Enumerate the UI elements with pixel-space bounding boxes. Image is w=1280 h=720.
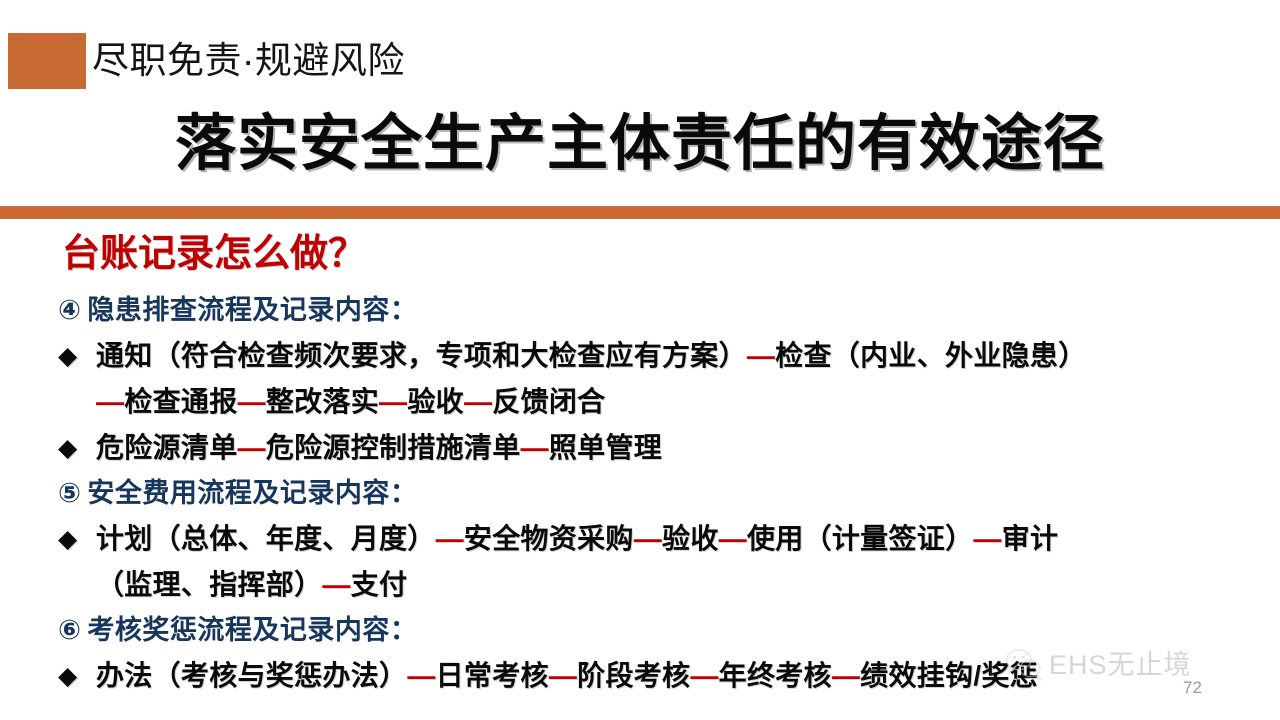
section-question: 台账记录怎么做？ bbox=[62, 228, 366, 280]
section-heading: ④隐患排查流程及记录内容： bbox=[58, 288, 1258, 333]
bullet-line: （监理、指挥部）—支付 bbox=[96, 562, 1258, 608]
bullet-line: 办法（考核与奖惩办法）—日常考核—阶段考核—年终考核—绩效挂钩/奖惩 bbox=[96, 653, 1258, 699]
flow-arrow-dash: — bbox=[634, 523, 662, 554]
section-heading: ⑤安全费用流程及记录内容： bbox=[58, 471, 1258, 516]
section-marker: ⑥ bbox=[58, 608, 81, 653]
flow-arrow-dash: — bbox=[832, 660, 860, 691]
bullet-segment: 通知（符合检查频次要求，专项和大检查应有方案） bbox=[96, 340, 747, 371]
bullet-segment: 审计 bbox=[1002, 523, 1059, 554]
flow-arrow-dash: — bbox=[96, 386, 124, 417]
bullet-segment: 支付 bbox=[351, 569, 408, 600]
bullet-text: 办法（考核与奖惩办法）—日常考核—阶段考核—年终考核—绩效挂钩/奖惩 bbox=[96, 653, 1258, 699]
flow-arrow-dash: — bbox=[238, 432, 266, 463]
bullet-segment: 危险源清单 bbox=[96, 432, 238, 463]
bullet-line: —检查通报—整改落实—验收—反馈闭合 bbox=[96, 379, 1258, 425]
bullet-segment: 办法（考核与奖惩办法） bbox=[96, 660, 407, 691]
bullet-segment: 年终考核 bbox=[719, 660, 832, 691]
bullet-segment: 照单管理 bbox=[549, 432, 662, 463]
bullet-segment: 验收 bbox=[407, 386, 464, 417]
diamond-bullet-icon: ◆ bbox=[58, 425, 96, 471]
flow-arrow-dash: — bbox=[973, 523, 1001, 554]
flow-arrow-dash: — bbox=[719, 523, 747, 554]
flow-arrow-dash: — bbox=[436, 523, 464, 554]
section-heading-label: 隐患排查流程及记录内容： bbox=[87, 295, 417, 325]
slide: 尽职免责·规避风险 落实安全生产主体责任的有效途径 台账记录怎么做？ ④隐患排查… bbox=[0, 0, 1280, 720]
section-marker: ⑤ bbox=[58, 471, 81, 516]
bullet-line: 危险源清单—危险源控制措施清单—照单管理 bbox=[96, 425, 1258, 471]
bullet-segment: 检查通报 bbox=[124, 386, 237, 417]
flow-arrow-dash: — bbox=[379, 386, 407, 417]
bullet-segment: 绩效挂钩/奖惩 bbox=[860, 660, 1038, 691]
bullet-segment: 反馈闭合 bbox=[492, 386, 605, 417]
bullet-line: 通知（符合检查频次要求，专项和大检查应有方案）—检查（内业、外业隐患） bbox=[96, 333, 1258, 379]
bullet-text: 通知（符合检查频次要求，专项和大检查应有方案）—检查（内业、外业隐患）—检查通报… bbox=[96, 333, 1258, 425]
section-heading: ⑥考核奖惩流程及记录内容： bbox=[58, 608, 1258, 653]
flow-arrow-dash: — bbox=[322, 569, 350, 600]
bullet-segment: 日常考核 bbox=[436, 660, 549, 691]
diamond-bullet-icon: ◆ bbox=[58, 653, 96, 699]
page-number: 72 bbox=[1183, 678, 1202, 698]
flow-arrow-dash: — bbox=[747, 340, 775, 371]
bullet-item: ◆通知（符合检查频次要求，专项和大检查应有方案）—检查（内业、外业隐患）—检查通… bbox=[58, 333, 1258, 425]
bullet-segment: 使用（计量签证） bbox=[747, 523, 973, 554]
content-body: ④隐患排查流程及记录内容：◆通知（符合检查频次要求，专项和大检查应有方案）—检查… bbox=[58, 288, 1258, 699]
bullet-item: ◆办法（考核与奖惩办法）—日常考核—阶段考核—年终考核—绩效挂钩/奖惩 bbox=[58, 653, 1258, 699]
bullet-segment: 危险源控制措施清单 bbox=[266, 432, 521, 463]
flow-arrow-dash: — bbox=[238, 386, 266, 417]
bullet-segment: （监理、指挥部） bbox=[96, 569, 322, 600]
slide-kicker: 尽职免责·规避风险 bbox=[92, 36, 405, 86]
bullet-text: 危险源清单—危险源控制措施清单—照单管理 bbox=[96, 425, 1258, 471]
accent-square bbox=[8, 33, 86, 89]
flow-arrow-dash: — bbox=[549, 660, 577, 691]
bullet-line: 计划（总体、年度、月度）—安全物资采购—验收—使用（计量签证）—审计 bbox=[96, 516, 1258, 562]
bullet-text: 计划（总体、年度、月度）—安全物资采购—验收—使用（计量签证）—审计（监理、指挥… bbox=[96, 516, 1258, 608]
bullet-segment: 检查（内业、外业隐患） bbox=[775, 340, 1086, 371]
diamond-bullet-icon: ◆ bbox=[58, 333, 96, 379]
bullet-segment: 安全物资采购 bbox=[464, 523, 634, 554]
slide-title: 落实安全生产主体责任的有效途径 bbox=[0, 104, 1280, 182]
section-heading-label: 考核奖惩流程及记录内容： bbox=[87, 615, 417, 645]
diamond-bullet-icon: ◆ bbox=[58, 516, 96, 562]
bullet-item: ◆计划（总体、年度、月度）—安全物资采购—验收—使用（计量签证）—审计（监理、指… bbox=[58, 516, 1258, 608]
flow-arrow-dash: — bbox=[464, 386, 492, 417]
section-marker: ④ bbox=[58, 288, 81, 333]
bullet-segment: 整改落实 bbox=[266, 386, 379, 417]
bullet-item: ◆危险源清单—危险源控制措施清单—照单管理 bbox=[58, 425, 1258, 471]
flow-arrow-dash: — bbox=[407, 660, 435, 691]
divider-bar bbox=[0, 206, 1280, 219]
bullet-segment: 计划（总体、年度、月度） bbox=[96, 523, 436, 554]
flow-arrow-dash: — bbox=[521, 432, 549, 463]
bullet-segment: 阶段考核 bbox=[577, 660, 690, 691]
bullet-segment: 验收 bbox=[662, 523, 719, 554]
section-heading-label: 安全费用流程及记录内容： bbox=[87, 478, 417, 508]
flow-arrow-dash: — bbox=[690, 660, 718, 691]
